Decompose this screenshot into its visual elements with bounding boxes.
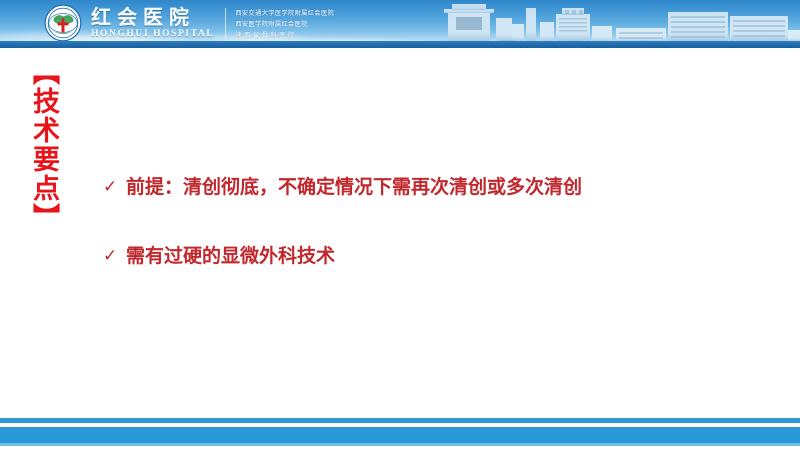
brand-lockup: 红会医院 HONGHUI HOSPITAL 西安交通大学医学院附属红会医院 西安… bbox=[44, 3, 334, 43]
checkmark-icon: ✓ bbox=[103, 176, 126, 199]
presentation-slide: 红会医院 HONGHUI HOSPITAL 西安交通大学医学院附属红会医院 西安… bbox=[0, 0, 800, 450]
brand-name-cn: 红会医院 bbox=[91, 7, 214, 27]
brand-wordmark: 红会医院 HONGHUI HOSPITAL bbox=[91, 7, 214, 40]
footer-thin-bar bbox=[0, 418, 800, 423]
list-item-text: 需有过硬的显微外科技术 bbox=[126, 245, 763, 269]
content-bullet-list: ✓ 前提：清创彻底，不确定情况下需再次清创或多次清创 ✓ 需有过硬的显微外科技术 bbox=[103, 176, 763, 269]
list-item-text: 前提：清创彻底，不确定情况下需再次清创或多次清创 bbox=[126, 176, 763, 200]
affiliation-line-1: 西安交通大学医学院附属红会医院 bbox=[235, 8, 334, 17]
header-banner: 红会医院 HONGHUI HOSPITAL 西安交通大学医学院附属红会医院 西安… bbox=[0, 0, 800, 48]
checkmark-icon: ✓ bbox=[103, 245, 126, 268]
affiliation-list: 西安交通大学医学院附属红会医院 西安医学院附属红会医院 陕西省骨科医院 bbox=[235, 8, 334, 39]
hospital-circular-emblem-icon bbox=[44, 4, 82, 42]
list-item: ✓ 需有过硬的显微外科技术 bbox=[103, 245, 763, 269]
affiliation-line-2: 西安医学院附属红会医院 bbox=[235, 19, 334, 28]
page-title: 【技术要点】 bbox=[18, 58, 58, 218]
list-item: ✓ 前提：清创彻底，不确定情况下需再次清创或多次清创 bbox=[103, 176, 763, 200]
affiliation-line-3: 陕西省骨科医院 bbox=[235, 30, 334, 39]
brand-name-en: HONGHUI HOSPITAL bbox=[91, 30, 214, 40]
header-bottom-rule bbox=[0, 41, 800, 48]
footer-thick-bar bbox=[0, 427, 800, 446]
brand-divider bbox=[225, 8, 226, 38]
